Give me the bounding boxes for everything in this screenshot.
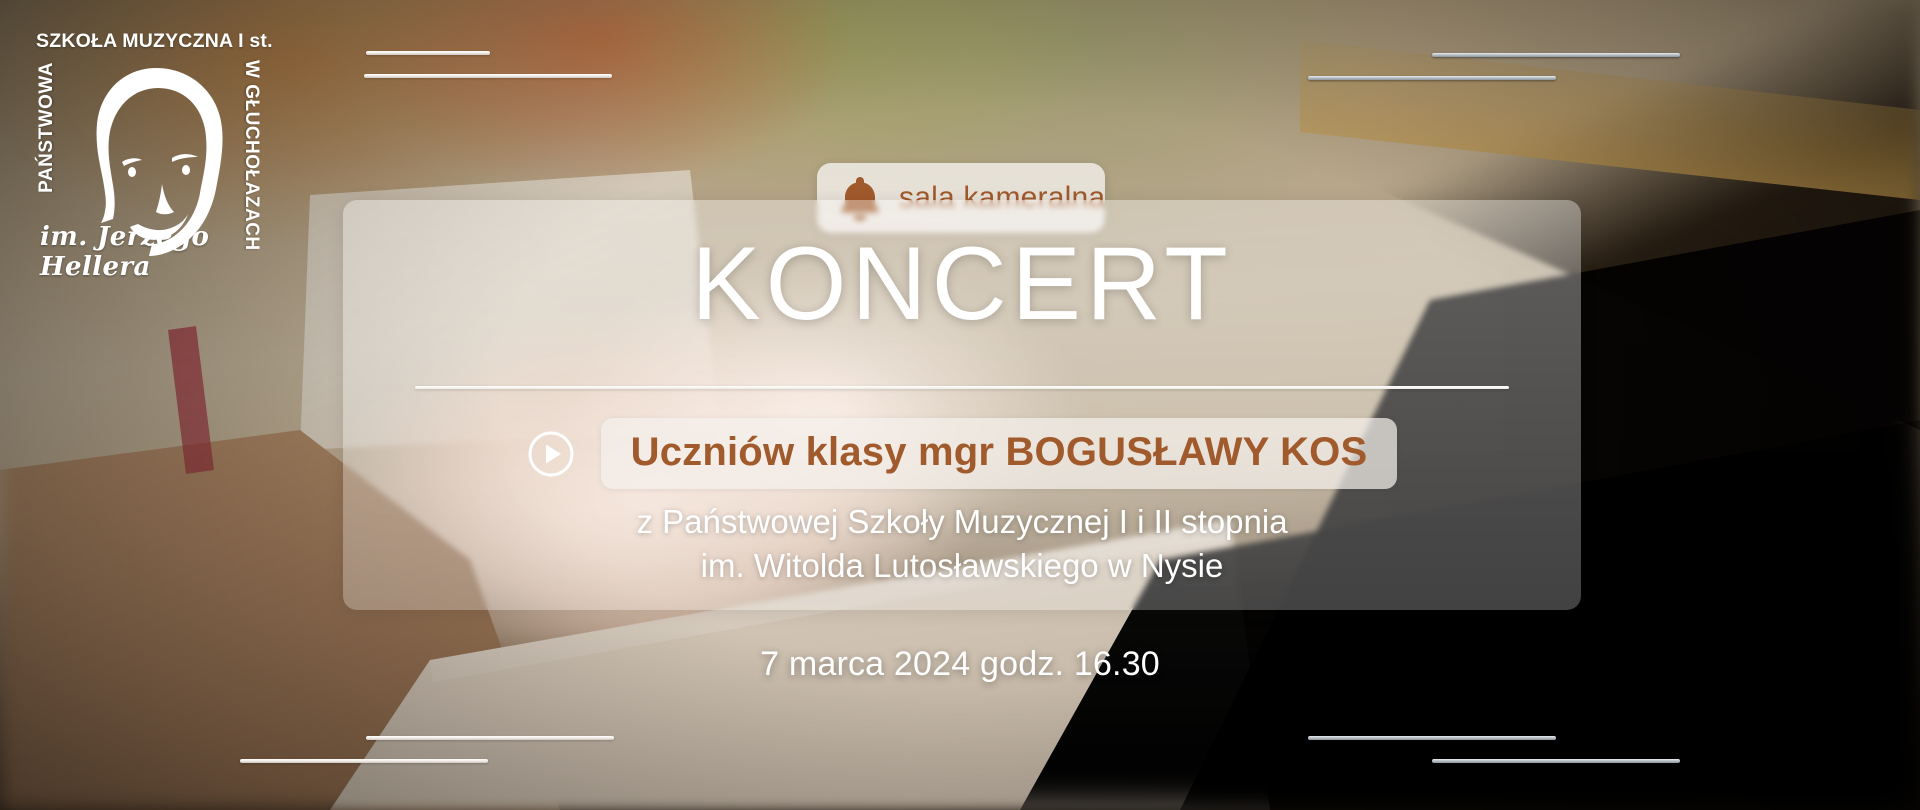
page-title: KONCERT — [343, 232, 1581, 336]
decor-line-bottom-right-1 — [1308, 736, 1556, 740]
main-panel: KONCERT Uczniów klasy mgr BOGUSŁAWY KOS … — [343, 200, 1581, 610]
title-divider — [415, 386, 1509, 389]
logo-top-text: SZKOŁA MUZYCZNA I st. — [36, 30, 273, 53]
decor-line-bottom-left-2 — [240, 759, 488, 763]
event-datetime: 7 marca 2024 godz. 16.30 — [0, 645, 1920, 684]
decor-line-top-right-2 — [1308, 76, 1556, 80]
decor-line-top-left-2 — [364, 74, 612, 78]
performer-school: z Państwowej Szkoły Muzycznej I i II sto… — [343, 500, 1581, 588]
decor-line-bottom-left-1 — [366, 736, 614, 740]
performer-row: Uczniów klasy mgr BOGUSŁAWY KOS — [343, 418, 1581, 489]
decor-line-top-right-1 — [1432, 53, 1680, 57]
performer-title: Uczniów klasy mgr BOGUSŁAWY KOS — [601, 418, 1398, 489]
play-circle-icon[interactable] — [527, 430, 575, 478]
school-logo: SZKOŁA MUZYCZNA I st. PAŃSTWOWA W GŁUCHO… — [22, 22, 290, 290]
poster-canvas: SZKOŁA MUZYCZNA I st. PAŃSTWOWA W GŁUCHO… — [0, 0, 1920, 810]
school-line-2: im. Witolda Lutosławskiego w Nysie — [343, 544, 1581, 588]
decor-line-bottom-right-2 — [1432, 759, 1680, 763]
logo-portrait-icon — [76, 66, 240, 266]
school-line-1: z Państwowej Szkoły Muzycznej I i II sto… — [343, 500, 1581, 544]
decor-line-top-left-1 — [366, 51, 490, 55]
logo-left-text: PAŃSTWOWA — [36, 62, 58, 193]
